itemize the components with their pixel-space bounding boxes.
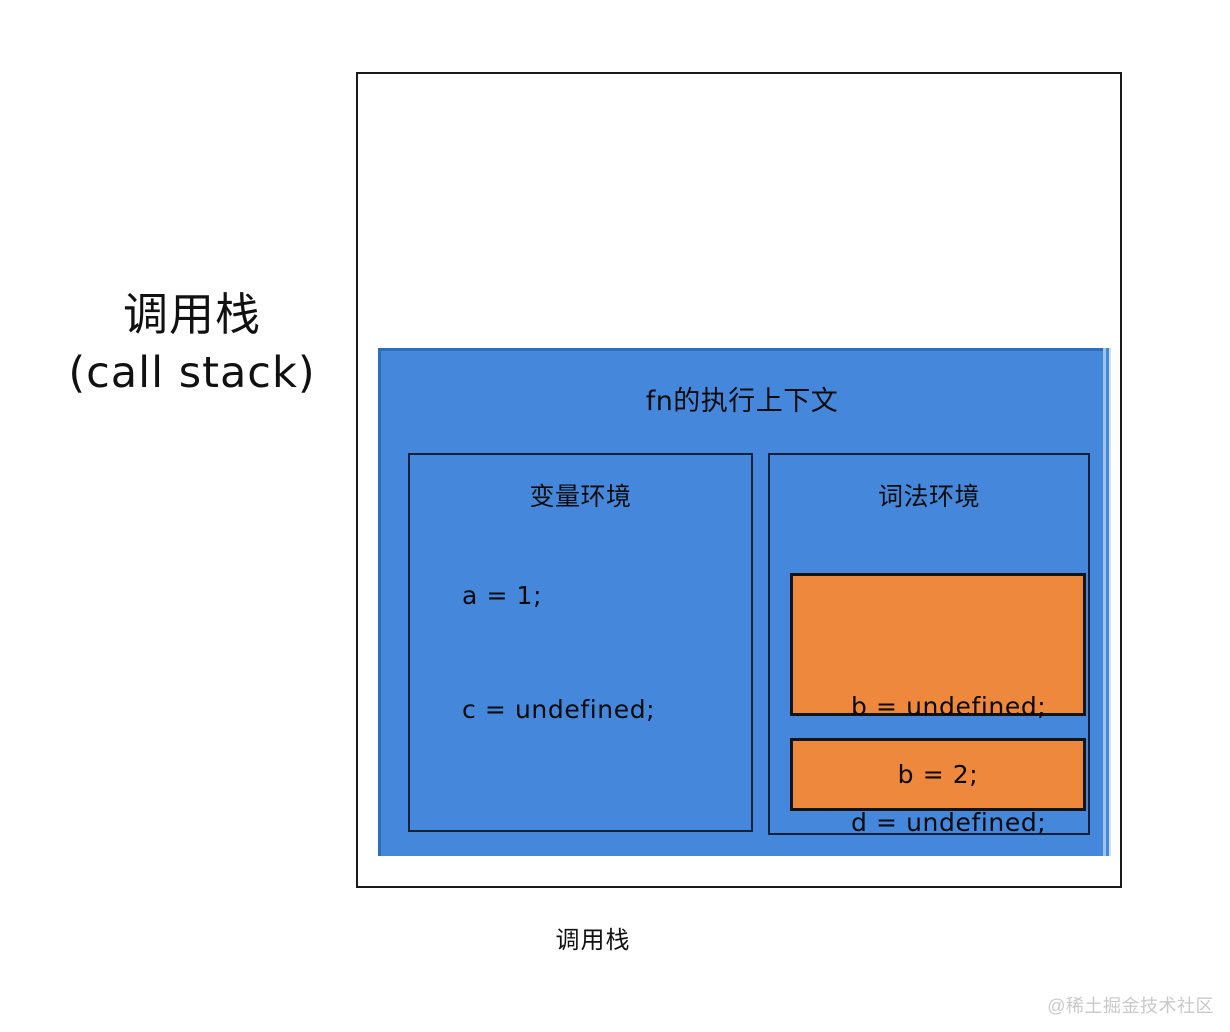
execution-context-box: fn的执行上下文 变量环境 a = 1; c = undefined; 词法环境… (378, 348, 1103, 856)
variable-environment-entries: a = 1; c = undefined; (462, 501, 655, 805)
call-stack-label-cn: 调用栈 (42, 288, 342, 343)
execution-context-title: fn的执行上下文 (381, 379, 1103, 418)
call-stack-label-en: (call stack) (42, 347, 342, 399)
watermark: @稀土掘金技术社区 (1047, 992, 1214, 1018)
call-stack-label: 调用栈 (call stack) (42, 288, 342, 399)
assigned-variable-box: b = 2; (790, 738, 1086, 811)
variable-environment-entry: a = 1; (462, 577, 655, 615)
hoisted-variable-entry: b = undefined; (851, 688, 1046, 727)
variable-environment-entry: c = undefined; (462, 691, 655, 729)
lexical-environment-panel: 词法环境 b = undefined; d = undefined; b = 2… (768, 453, 1090, 835)
lexical-environment-title: 词法环境 (770, 477, 1088, 513)
hoisted-variables-box: b = undefined; d = undefined; (790, 573, 1086, 716)
assigned-variable-entry: b = 2; (898, 760, 979, 789)
diagram-canvas: 调用栈 (call stack) fn的执行上下文 变量环境 a = 1; c … (0, 0, 1230, 1032)
diagram-caption: 调用栈 (0, 920, 1230, 955)
diagram-caption-text: 调用栈 (556, 927, 631, 954)
variable-environment-panel: 变量环境 a = 1; c = undefined; (408, 453, 753, 832)
